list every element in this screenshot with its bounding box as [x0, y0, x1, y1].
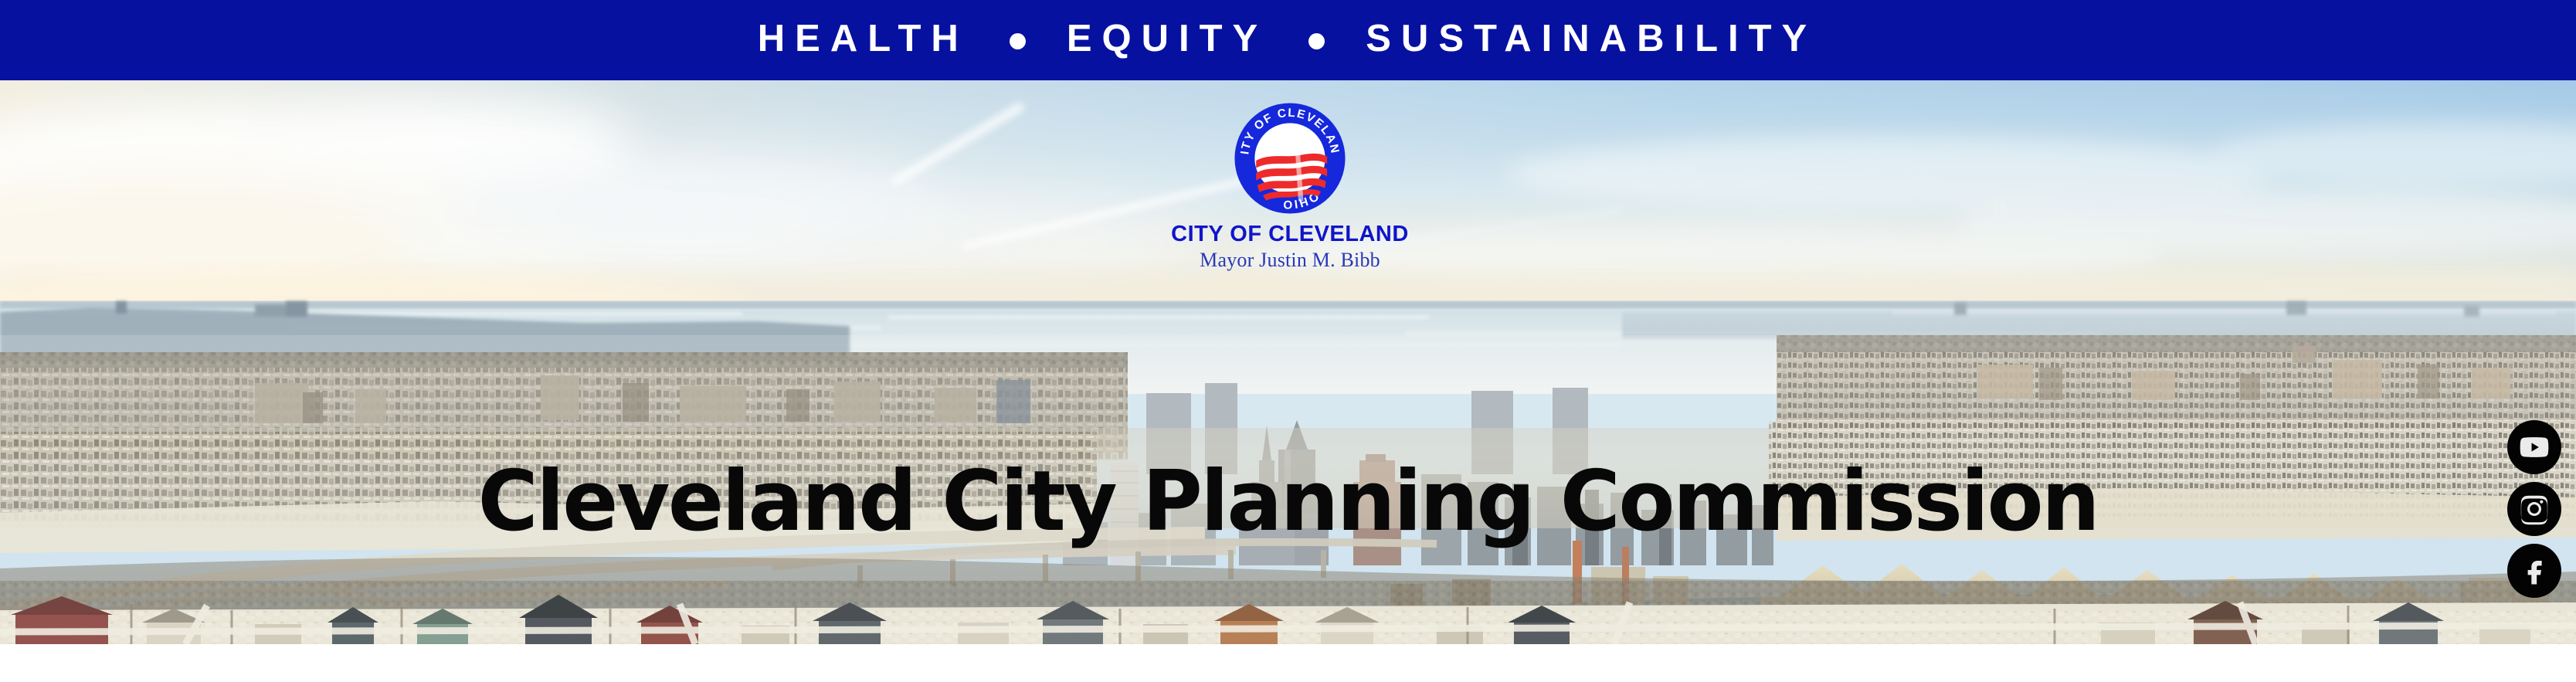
tagline-word-equity: EQUITY: [1067, 20, 1268, 60]
tagline-word-health: HEALTH: [758, 20, 969, 60]
instagram-link[interactable]: [2507, 482, 2561, 536]
instagram-icon: [2518, 493, 2551, 525]
bullet-dot-icon: [1308, 33, 1325, 49]
tagline-word-sustainability: SUSTAINABILITY: [1366, 20, 1817, 60]
tagline-banner: HEALTH EQUITY SUSTAINABILITY: [0, 0, 2576, 80]
city-branding-block: CITY OF CLEVELAND OHIO: [1089, 102, 1491, 271]
page-title: Cleveland City Planning Commission: [19, 460, 2557, 544]
city-seal-wrap: CITY OF CLEVELAND OHIO: [1089, 102, 1491, 215]
page-root: HEALTH EQUITY SUSTAINABILITY: [0, 0, 2576, 682]
city-wordmark-title: CITY OF CLEVELAND: [1089, 222, 1491, 246]
social-media-rail: [2503, 420, 2565, 598]
facebook-link[interactable]: [2507, 544, 2561, 598]
city-of-cleveland-seal-icon: CITY OF CLEVELAND OHIO: [1234, 102, 1346, 215]
mayor-name-label: Mayor Justin M. Bibb: [1089, 249, 1491, 270]
bullet-dot-icon: [1010, 33, 1026, 49]
tagline-banner-inner: HEALTH EQUITY SUSTAINABILITY: [758, 20, 1817, 60]
youtube-link[interactable]: [2507, 420, 2561, 474]
youtube-icon: [2517, 430, 2551, 464]
facebook-icon: [2518, 555, 2551, 587]
